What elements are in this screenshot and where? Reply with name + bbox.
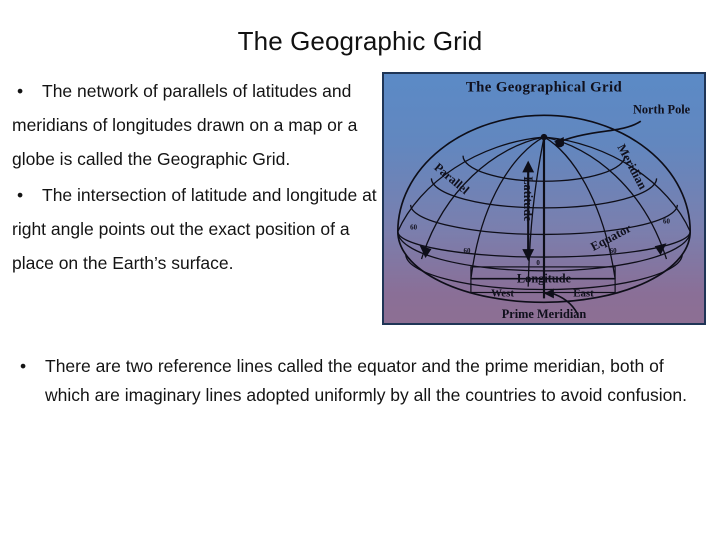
degree-mark-right-outer: 60 [663, 219, 670, 226]
label-north-pole: North Pole [633, 102, 691, 116]
degree-mark-left-outer: 60 [410, 225, 417, 232]
degree-mark-right-inner: 60 [610, 248, 617, 255]
body-text-column: •The network of parallels of latitudes a… [12, 74, 388, 282]
bullet-paragraph-2: •The intersection of latitude and longit… [12, 178, 388, 280]
bullet-paragraph-3: • There are two reference lines called t… [14, 352, 704, 409]
globe-diagram: The Geographical Grid North Pole Meridia… [384, 74, 704, 323]
geographical-grid-image: The Geographical Grid North Pole Meridia… [382, 72, 706, 325]
label-west: West [491, 287, 514, 299]
bullet-glyph: • [12, 74, 42, 108]
degree-mark-left-inner: 60 [464, 248, 471, 255]
label-east: East [573, 287, 594, 299]
bullet-glyph: • [12, 178, 42, 212]
paragraph-1-text: The network of parallels of latitudes an… [12, 81, 357, 169]
label-meridian: Meridian [614, 142, 650, 192]
figure-title: The Geographical Grid [466, 80, 623, 96]
label-latitude: Latitude [521, 176, 535, 222]
label-parallel: Parallel [431, 160, 472, 197]
paragraph-3-text: There are two reference lines called the… [45, 352, 704, 409]
page-title: The Geographic Grid [0, 26, 720, 56]
label-longitude: Longitude [517, 272, 572, 286]
bullet-glyph: • [14, 352, 45, 381]
label-prime-meridian: Prime Meridian [502, 307, 587, 321]
latitude-arrow-up [522, 161, 534, 173]
degree-mark-center: 0 [536, 260, 540, 267]
bullet-paragraph-1: •The network of parallels of latitudes a… [12, 74, 388, 176]
paragraph-2-text: The intersection of latitude and longitu… [12, 185, 377, 273]
latitude-arrow-down [522, 249, 534, 261]
